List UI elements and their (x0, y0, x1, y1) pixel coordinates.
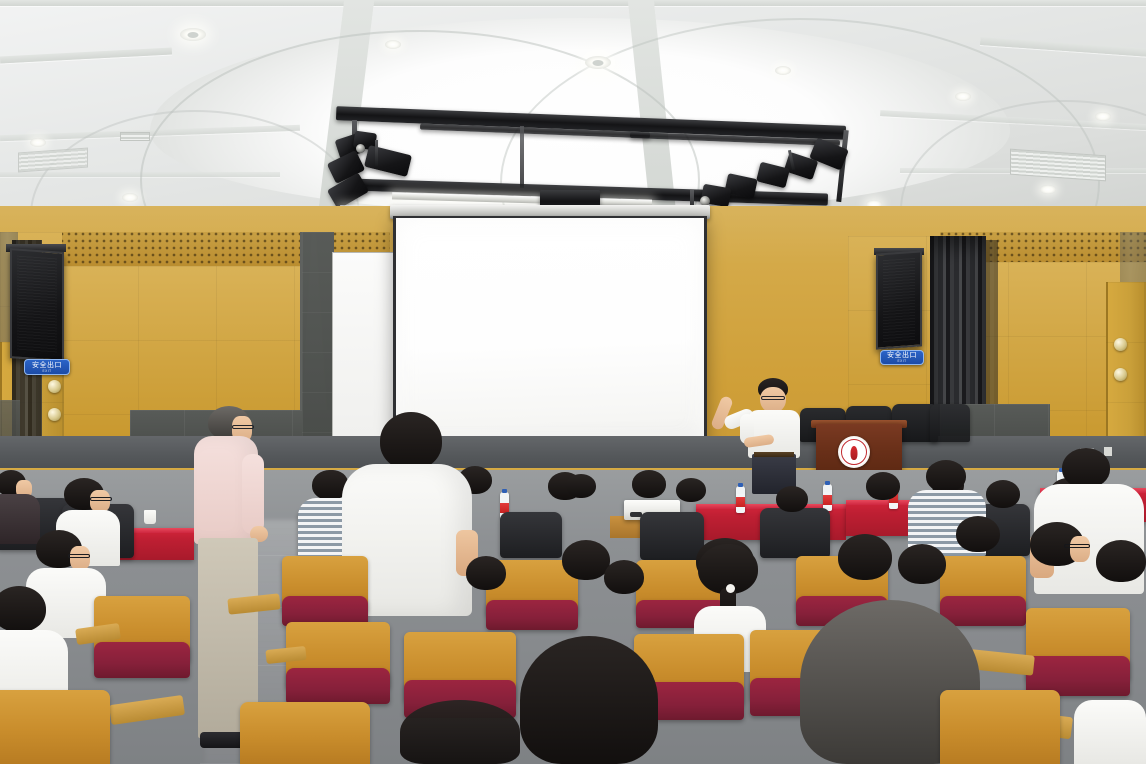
seat-foreground-left[interactable] (0, 690, 110, 764)
audience-head-c4 (604, 560, 644, 594)
seat-cushion-b-2[interactable] (486, 600, 578, 630)
seat-cushion-c-1[interactable] (286, 668, 390, 704)
ceiling-strip (0, 0, 1146, 6)
audience-head-c7 (1096, 540, 1146, 582)
audience-head-c5 (466, 556, 506, 590)
audience-head-b3 (838, 534, 892, 580)
ceiling-edge-right (980, 37, 1146, 59)
ceiling-edge-left (0, 48, 172, 64)
audience-head-c1 (566, 474, 596, 498)
exit-sign-left-cn: 安全出口 (32, 362, 62, 369)
audience-head-c3 (776, 486, 808, 512)
audience-head-a5 (632, 470, 666, 498)
downlight-4 (775, 66, 791, 75)
hair-tie (726, 584, 735, 593)
audience-head-front-left (400, 700, 520, 764)
water-bottle-1 (736, 486, 745, 513)
downlight-6 (30, 138, 46, 147)
speaker-box-left (10, 248, 64, 362)
door-knob-upper[interactable] (48, 380, 61, 393)
audience-head-a6 (866, 472, 900, 500)
exit-sign-right-cn: 安全出口 (887, 352, 917, 359)
door-right[interactable] (1106, 282, 1146, 440)
audience-torso-front-right (1074, 700, 1146, 764)
downlight-5 (955, 92, 971, 101)
door-right-knob-upper[interactable] (1114, 338, 1127, 351)
exit-sign-right: 安全出口 EXIT (880, 350, 924, 365)
presenter (718, 378, 828, 490)
paper-cup (144, 510, 156, 524)
stagelight-yoke-L (375, 140, 378, 166)
door-knob-lower[interactable] (48, 408, 61, 421)
downlight-11 (1040, 185, 1056, 194)
stage-chair-4 (930, 404, 970, 442)
downlight-2 (385, 40, 401, 49)
lectern-emblem (838, 436, 870, 468)
downlight-9 (122, 193, 138, 202)
auditorium-photo: 安全出口 EXIT 安全出口 EXIT (0, 0, 1146, 764)
audience-head-c6 (956, 516, 1000, 552)
downlight-3 (585, 56, 611, 69)
projection-screen-content (396, 218, 704, 445)
seat-foreground-center-left[interactable] (240, 702, 370, 764)
seat-far-7[interactable] (760, 508, 830, 558)
downlight-8 (1095, 112, 1111, 121)
door-right-knob-lower[interactable] (1114, 368, 1127, 381)
presenter-belt (754, 452, 794, 457)
ceiling-vent-small (120, 132, 150, 141)
seat-cushion-c-0[interactable] (94, 642, 190, 678)
seat-foreground-right[interactable] (940, 690, 1060, 764)
exit-sign-right-en: EXIT (887, 359, 917, 363)
presenter-shirt (748, 410, 800, 458)
downlight-1 (180, 28, 206, 41)
audience-head-c2 (676, 478, 706, 502)
wainscot-column (302, 232, 334, 438)
stagelight-lens-L (356, 144, 365, 153)
presenter-glasses (761, 396, 785, 400)
truss-rod-mid (520, 126, 524, 188)
exit-sign-left: 安全出口 EXIT (24, 359, 70, 375)
audience-head-b4 (898, 544, 946, 584)
seat-cushion-b-5[interactable] (940, 596, 1026, 626)
audience-head-front-center (520, 636, 658, 764)
seat-far-5[interactable] (500, 512, 562, 558)
speaker-box-right (876, 250, 922, 349)
audience-head-b1 (562, 540, 610, 580)
exit-sign-left-en: EXIT (32, 369, 62, 373)
